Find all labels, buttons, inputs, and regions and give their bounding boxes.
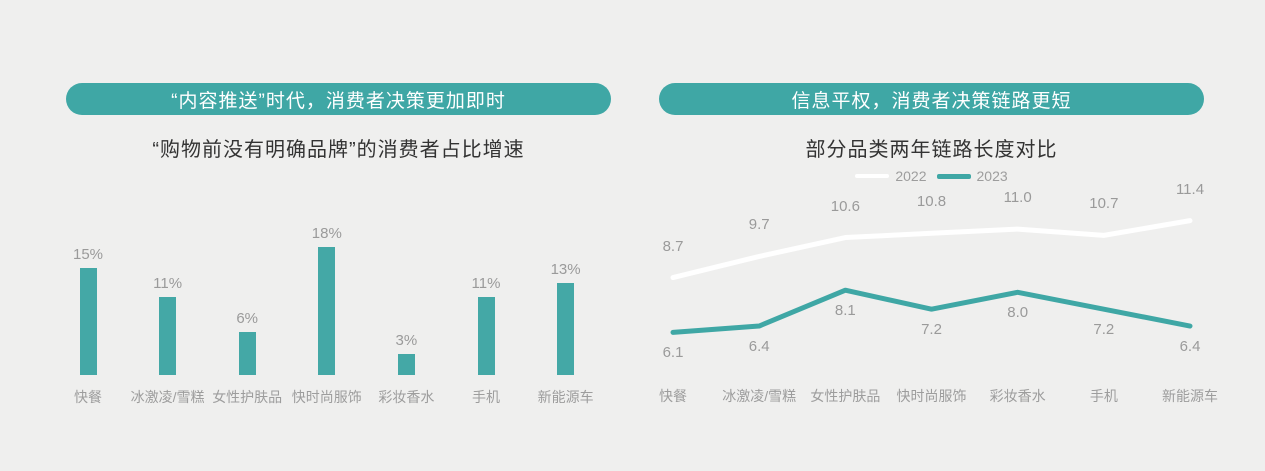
bar-group: 18%快时尚服饰 — [287, 205, 367, 415]
line-category-label: 新能源车 — [1162, 386, 1218, 406]
line-point-label: 11.0 — [1004, 189, 1032, 206]
legend-label-2023: 2023 — [977, 168, 1008, 184]
bar[interactable] — [557, 283, 574, 375]
bar-category-label: 手机 — [440, 387, 532, 407]
bar[interactable] — [159, 297, 176, 375]
bar-category-label: 冰激凌/雪糕 — [122, 387, 214, 407]
bar-category-label: 彩妆香水 — [360, 387, 452, 407]
bar-chart: 15%快餐11%冰激凌/雪糕6%女性护肤品18%快时尚服饰3%彩妆香水11%手机… — [48, 205, 608, 415]
left-panel-subtitle: “购物前没有明确品牌”的消费者占比增速 — [66, 133, 611, 162]
legend-item-2023[interactable]: 2023 — [937, 168, 1008, 184]
bar-track: 15% — [48, 235, 128, 375]
right-panel-banner: 信息平权，消费者决策链路更短 — [659, 83, 1204, 115]
legend-item-2022[interactable]: 2022 — [855, 168, 926, 184]
legend-swatch-icon — [855, 174, 889, 178]
line-point-label: 7.2 — [921, 321, 942, 338]
line-category-label: 彩妆香水 — [990, 386, 1046, 406]
bar[interactable] — [80, 268, 97, 375]
bar[interactable] — [318, 247, 335, 375]
bar-category-label: 新能源车 — [520, 387, 612, 407]
bar-value-label: 13% — [526, 261, 606, 278]
bar-track: 3% — [366, 235, 446, 375]
line-point-label: 10.6 — [831, 198, 860, 215]
line-category-label: 快餐 — [659, 386, 687, 406]
bar-group: 13%新能源车 — [526, 205, 606, 415]
line-category-label: 手机 — [1090, 386, 1118, 406]
bar-group: 11%冰激凌/雪糕 — [128, 205, 208, 415]
line-point-label: 9.7 — [749, 216, 770, 233]
left-panel-banner: “内容推送”时代，消费者决策更加即时 — [66, 83, 611, 115]
line-point-label: 10.7 — [1089, 195, 1118, 212]
bar-group: 15%快餐 — [48, 205, 128, 415]
line-chart: 2022 2023 8.79.710.610.811.010.711.46.16… — [640, 160, 1265, 420]
bar[interactable] — [239, 332, 256, 375]
bar-track: 11% — [128, 235, 208, 375]
bar-group: 11%手机 — [446, 205, 526, 415]
bar-category-label: 快餐 — [42, 387, 134, 407]
bar-track: 18% — [287, 235, 367, 375]
legend-label-2022: 2022 — [895, 168, 926, 184]
line-chart-legend: 2022 2023 — [659, 168, 1204, 184]
bar-value-label: 15% — [48, 246, 128, 263]
bar-track: 6% — [207, 235, 287, 375]
bar-group: 6%女性护肤品 — [207, 205, 287, 415]
bar-category-label: 快时尚服饰 — [281, 387, 373, 407]
bar-group: 3%彩妆香水 — [366, 205, 446, 415]
line-chart-plot — [640, 190, 1265, 370]
line-point-label: 8.1 — [835, 302, 856, 319]
bar[interactable] — [478, 297, 495, 375]
line-point-label: 8.7 — [663, 238, 684, 255]
bar-value-label: 11% — [128, 275, 208, 292]
line-category-label: 女性护肤品 — [810, 386, 880, 406]
legend-swatch-icon — [937, 174, 971, 179]
line-point-label: 6.4 — [1180, 338, 1201, 355]
line-point-label: 10.8 — [917, 193, 946, 210]
line-category-label: 快时尚服饰 — [897, 386, 967, 406]
bar-value-label: 3% — [366, 332, 446, 349]
bar[interactable] — [398, 354, 415, 375]
bar-value-label: 18% — [287, 225, 367, 242]
line-point-label: 7.2 — [1093, 321, 1114, 338]
line-point-label: 11.4 — [1176, 181, 1204, 198]
bar-category-label: 女性护肤品 — [201, 387, 293, 407]
line-point-label: 8.0 — [1007, 304, 1028, 321]
line-point-label: 6.1 — [663, 344, 684, 361]
right-panel: 信息平权，消费者决策链路更短 部分品类两年链路长度对比 2022 2023 8.… — [640, 0, 1265, 471]
bar-value-label: 11% — [446, 275, 526, 292]
bar-track: 11% — [446, 235, 526, 375]
line-point-label: 6.4 — [749, 338, 770, 355]
bar-track: 13% — [526, 235, 606, 375]
left-panel: “内容推送”时代，消费者决策更加即时 “购物前没有明确品牌”的消费者占比增速 1… — [0, 0, 640, 471]
right-panel-subtitle: 部分品类两年链路长度对比 — [659, 133, 1204, 162]
line-category-label: 冰激凌/雪糕 — [722, 386, 796, 406]
bar-value-label: 6% — [207, 310, 287, 327]
